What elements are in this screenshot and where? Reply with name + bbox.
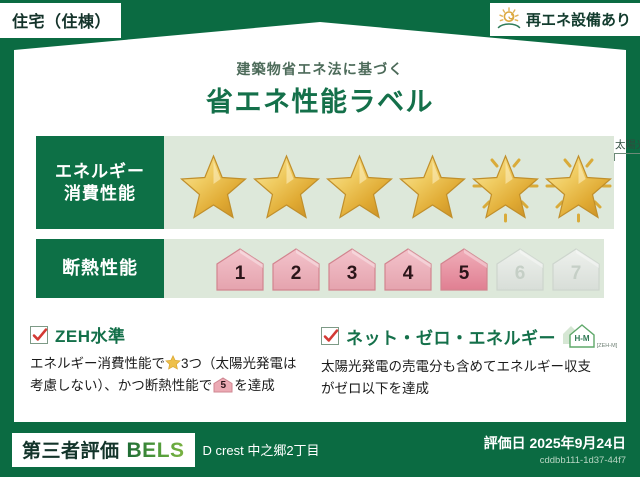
energy-consumption-row: エネルギー 消費性能 太陽光発電(自家消費)分 — [36, 136, 604, 229]
inline-level-badge: 5 — [213, 377, 233, 393]
claim-zeh-standard-header: ZEH水準 — [30, 322, 307, 347]
claim-net-zero-text: 太陽光発電の売電分も含めてエネルギー収支がゼロ以下を達成 — [321, 359, 591, 396]
evaluation-id: cddbb111-1d37-44f7 — [484, 455, 626, 466]
renewable-equipment-label: 再エネ設備あり — [526, 9, 631, 30]
sun-rays-icon — [496, 7, 522, 31]
claims-section: ZEH水準 エネルギー消費性能で3つ（太陽光発電は考慮しない）、かつ断熱性能で5… — [30, 322, 612, 401]
insulation-level-2: 2 — [270, 247, 322, 291]
check-box-net-zero-energy — [321, 327, 339, 345]
insulation-level-value: 3 — [347, 263, 358, 291]
insulation-header-label: 断熱性能 — [62, 257, 138, 280]
evaluation-date-value: 2025年9月24日 — [529, 435, 626, 451]
inline-star-icon — [165, 355, 181, 370]
footer-bar: 第三者評価 BELS D crest 中之郷2丁目 評価日 2025年9月24日… — [0, 422, 640, 477]
solar-bracket — [614, 153, 640, 161]
bels-logo-text: BELS — [127, 439, 185, 463]
zeh-m-mark-icon: H-M [ZEH-M] — [561, 322, 621, 350]
insulation-level-value: 7 — [571, 263, 582, 291]
insulation-row-body: 1234567 — [164, 239, 604, 298]
insulation-level-value: 4 — [403, 263, 414, 291]
insulation-level-scale: 1234567 — [214, 247, 602, 291]
svg-text:[ZEH-M]: [ZEH-M] — [597, 343, 618, 349]
claim-net-zero-energy-title: ネット・ゼロ・エネルギー — [346, 324, 556, 349]
energy-consumption-row-body: 太陽光発電(自家消費)分 — [164, 136, 614, 229]
star-2 — [251, 153, 322, 223]
insulation-level-value: 5 — [459, 263, 470, 291]
inline-level-badge-value: 5 — [213, 378, 233, 395]
insulation-level-1: 1 — [214, 247, 266, 291]
check-box-zeh-standard — [30, 326, 48, 344]
renewable-equipment-tag: 再エネ設備あり — [490, 3, 640, 36]
insulation-performance-row: 断熱性能 1234567 — [36, 239, 604, 298]
insulation-level-7: 7 — [550, 247, 602, 291]
claim-zeh-standard: ZEH水準 エネルギー消費性能で3つ（太陽光発電は考慮しない）、かつ断熱性能で5… — [30, 322, 321, 401]
insulation-level-3: 3 — [326, 247, 378, 291]
star-5 — [470, 153, 541, 223]
insulation-row-header: 断熱性能 — [36, 239, 164, 298]
insulation-level-4: 4 — [382, 247, 434, 291]
solar-self-consumption-note: 太陽光発電(自家消費)分 — [604, 137, 640, 152]
energy-consumption-header-line2: 消費性能 — [64, 183, 136, 204]
label-subtitle: 建築物省エネ法に基づく — [0, 59, 640, 79]
star-6 — [543, 153, 614, 223]
claim-net-zero-energy: ネット・ゼロ・エネルギー H-M [ZEH-M] 太陽光発電の売電分も含めてエネ… — [321, 322, 612, 401]
insulation-level-6: 6 — [494, 247, 546, 291]
building-name: D crest 中之郷2丁目 — [203, 440, 320, 459]
insulation-level-value: 1 — [235, 263, 246, 291]
claim-zeh-standard-title: ZEH水準 — [55, 322, 126, 347]
star-4 — [397, 153, 468, 223]
insulation-level-value: 6 — [515, 263, 526, 291]
svg-text:H-M: H-M — [574, 334, 589, 343]
evaluation-date: 評価日 2025年9月24日 — [484, 433, 626, 453]
bels-badge: 第三者評価 BELS — [12, 433, 195, 467]
evaluation-date-label: 評価日 — [484, 435, 526, 451]
dwelling-type-tag: 住宅（住棟） — [0, 3, 121, 38]
claim-zeh-standard-body: エネルギー消費性能で3つ（太陽光発電は考慮しない）、かつ断熱性能で5を達成 — [30, 353, 307, 398]
insulation-level-5: 5 — [438, 247, 490, 291]
star-3 — [324, 153, 395, 223]
insulation-level-value: 2 — [291, 263, 302, 291]
dwelling-type-label: 住宅（住棟） — [12, 8, 111, 32]
energy-consumption-row-header: エネルギー 消費性能 — [36, 136, 164, 229]
energy-consumption-header-line1: エネルギー — [55, 161, 145, 182]
claim-zeh-text-part1: エネルギー消費性能で — [30, 356, 165, 371]
claim-net-zero-energy-body: 太陽光発電の売電分も含めてエネルギー収支がゼロ以下を達成 — [321, 356, 598, 401]
energy-performance-label: 住宅（住棟） 再エネ設備あり 建築物省エネ法に基づく 省エ — [0, 0, 640, 477]
claim-net-zero-energy-header: ネット・ゼロ・エネルギー H-M [ZEH-M] — [321, 322, 598, 350]
label-title: 省エネ性能ラベル — [0, 80, 640, 119]
third-party-eval-label: 第三者評価 — [22, 436, 120, 463]
evaluation-info: 評価日 2025年9月24日 cddbb111-1d37-44f7 — [484, 433, 626, 466]
claim-zeh-text-part3: を達成 — [234, 378, 275, 393]
star-1 — [178, 153, 249, 223]
energy-star-rating — [178, 153, 614, 223]
